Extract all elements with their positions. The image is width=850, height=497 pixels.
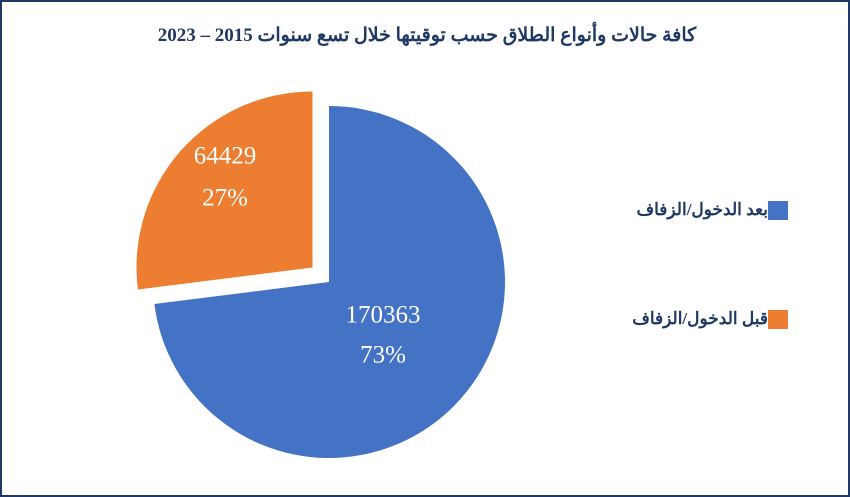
chart-canvas: كافة حالات وأنواع الطلاق حسب توقيتها خلا… bbox=[0, 0, 850, 497]
square-swatch-blue-icon bbox=[768, 201, 788, 220]
pie-chart-svg: 170363 73% 64429 27% bbox=[97, 72, 567, 492]
legend-item-before-wedding[interactable]: قبل الدخول/الزفاف bbox=[587, 309, 802, 329]
legend-label-after-wedding: بعد الدخول/الزفاف bbox=[587, 200, 768, 220]
slice-percent-after-wedding: 73% bbox=[360, 342, 406, 369]
chart-title: كافة حالات وأنواع الطلاق حسب توقيتها خلا… bbox=[2, 24, 850, 47]
pie-plot-area: 170363 73% 64429 27% bbox=[97, 72, 567, 492]
slice-value-before-wedding: 64429 bbox=[194, 143, 257, 170]
legend-item-after-wedding[interactable]: بعد الدخول/الزفاف bbox=[587, 200, 802, 220]
chart-legend: بعد الدخول/الزفاف قبل الدخول/الزفاف bbox=[587, 192, 817, 362]
slice-value-after-wedding: 170363 bbox=[346, 302, 421, 329]
legend-label-before-wedding: قبل الدخول/الزفاف bbox=[587, 309, 768, 329]
square-swatch-orange-icon bbox=[768, 310, 788, 329]
slice-percent-before-wedding: 27% bbox=[202, 185, 248, 212]
